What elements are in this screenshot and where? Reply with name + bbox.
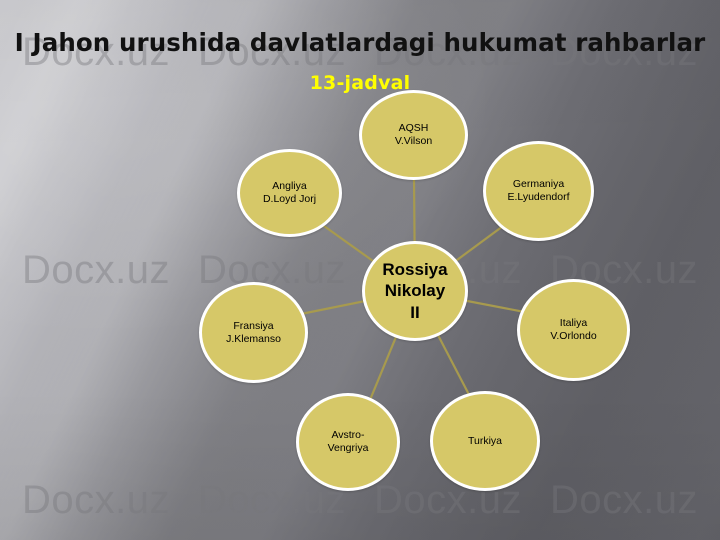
node-label: Germaniya E.Lyudendorf — [501, 178, 575, 204]
hub-and-spoke-diagram: AQSH V.Vilson Germaniya E.Lyudendorf Ita… — [0, 0, 720, 540]
node-label: Italiya V.Orlondo — [544, 317, 602, 343]
diagram-node-aqsh[interactable]: AQSH V.Vilson — [359, 90, 468, 180]
diagram-node-angliya[interactable]: Angliya D.Loyd Jorj — [237, 149, 342, 237]
node-label: Avstro- Vengriya — [322, 429, 375, 455]
node-label: AQSH V.Vilson — [389, 122, 438, 148]
diagram-node-center-rossiya[interactable]: Rossiya Nikolay II — [362, 241, 468, 341]
node-label: Turkiya — [462, 435, 508, 448]
diagram-node-fransiya[interactable]: Fransiya J.Klemanso — [199, 282, 308, 383]
diagram-node-germaniya[interactable]: Germaniya E.Lyudendorf — [483, 141, 594, 241]
presentation-slide: Docx.uz Docx.uz Docx.uz Docx.uz Docx.uz … — [0, 0, 720, 540]
node-label: Fransiya J.Klemanso — [220, 320, 287, 346]
node-label: Angliya D.Loyd Jorj — [257, 180, 322, 206]
node-label: Rossiya Nikolay II — [376, 259, 453, 323]
diagram-node-italiya[interactable]: Italiya V.Orlondo — [517, 279, 630, 381]
diagram-node-turkiya[interactable]: Turkiya — [430, 391, 540, 491]
diagram-node-avstro-vengriya[interactable]: Avstro- Vengriya — [296, 393, 400, 491]
